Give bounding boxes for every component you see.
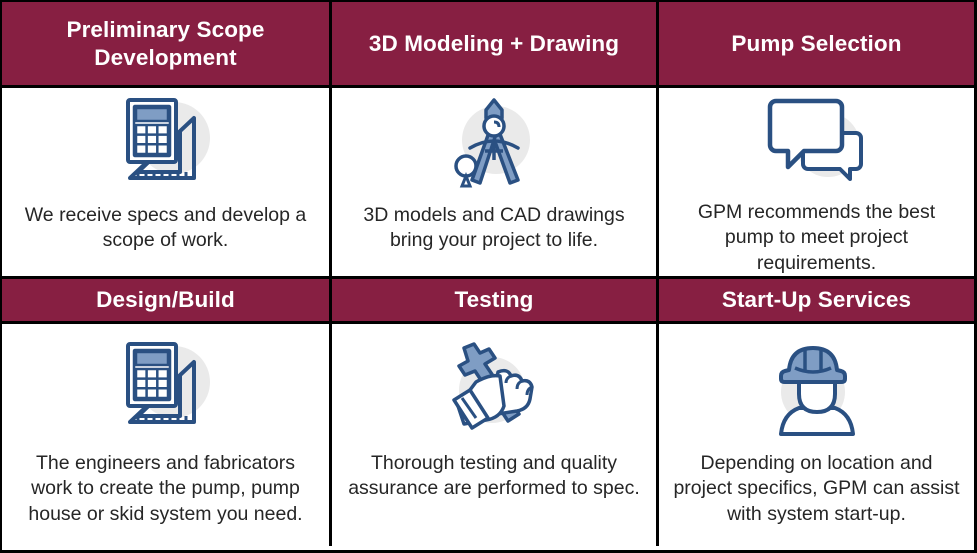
cell-caption: The engineers and fabricators work to cr… (2, 445, 329, 527)
header-label: Testing (454, 286, 533, 313)
icon-container (332, 324, 656, 445)
drafting-compass-icon (444, 94, 544, 194)
header-row-2: Design/Build Testing Start-Up Services (2, 279, 974, 324)
cell-caption: 3D models and CAD drawings bring your pr… (332, 200, 656, 254)
icon-container (332, 88, 656, 200)
cell-body-3d-modeling-drawing: 3D models and CAD drawings bring your pr… (332, 88, 659, 279)
hand-wrench-icon (442, 338, 546, 438)
icon-container (659, 88, 974, 197)
cell-header-testing: Testing (332, 279, 659, 324)
icon-container (2, 324, 329, 445)
header-label: Design/Build (96, 286, 235, 313)
cell-header-preliminary-scope-development: Preliminary Scope Development (2, 2, 332, 88)
cell-header-start-up-services: Start-Up Services (659, 279, 974, 324)
header-label: Pump Selection (731, 30, 901, 57)
chat-bubbles-icon (762, 97, 872, 187)
cell-header-design-build: Design/Build (2, 279, 332, 324)
calculator-ruler-icon (114, 94, 218, 194)
cell-body-testing: Thorough testing and quality assurance a… (332, 324, 659, 546)
header-label: 3D Modeling + Drawing (369, 30, 619, 57)
cell-header-3d-modeling-drawing: 3D Modeling + Drawing (332, 2, 659, 88)
cell-body-start-up-services: Depending on location and project specif… (659, 324, 974, 546)
cell-caption: We receive specs and develop a scope of … (2, 200, 329, 254)
icon-container (2, 88, 329, 200)
calculator-ruler-icon (114, 338, 218, 438)
header-label: Start-Up Services (722, 286, 911, 313)
header-label: Preliminary Scope Development (12, 16, 319, 71)
cell-header-pump-selection: Pump Selection (659, 2, 974, 88)
process-steps-grid: Preliminary Scope Development 3D Modelin… (0, 0, 977, 553)
body-row-1: We receive specs and develop a scope of … (2, 88, 974, 279)
hard-hat-worker-icon (767, 338, 867, 438)
cell-body-design-build: The engineers and fabricators work to cr… (2, 324, 332, 546)
cell-body-preliminary-scope-development: We receive specs and develop a scope of … (2, 88, 332, 279)
cell-caption: GPM recommends the best pump to meet pro… (659, 197, 974, 276)
cell-body-pump-selection: GPM recommends the best pump to meet pro… (659, 88, 974, 279)
header-row-1: Preliminary Scope Development 3D Modelin… (2, 2, 974, 88)
icon-container (659, 324, 974, 445)
cell-caption: Depending on location and project specif… (659, 445, 974, 527)
body-row-2: The engineers and fabricators work to cr… (2, 324, 974, 546)
cell-caption: Thorough testing and quality assurance a… (332, 445, 656, 502)
